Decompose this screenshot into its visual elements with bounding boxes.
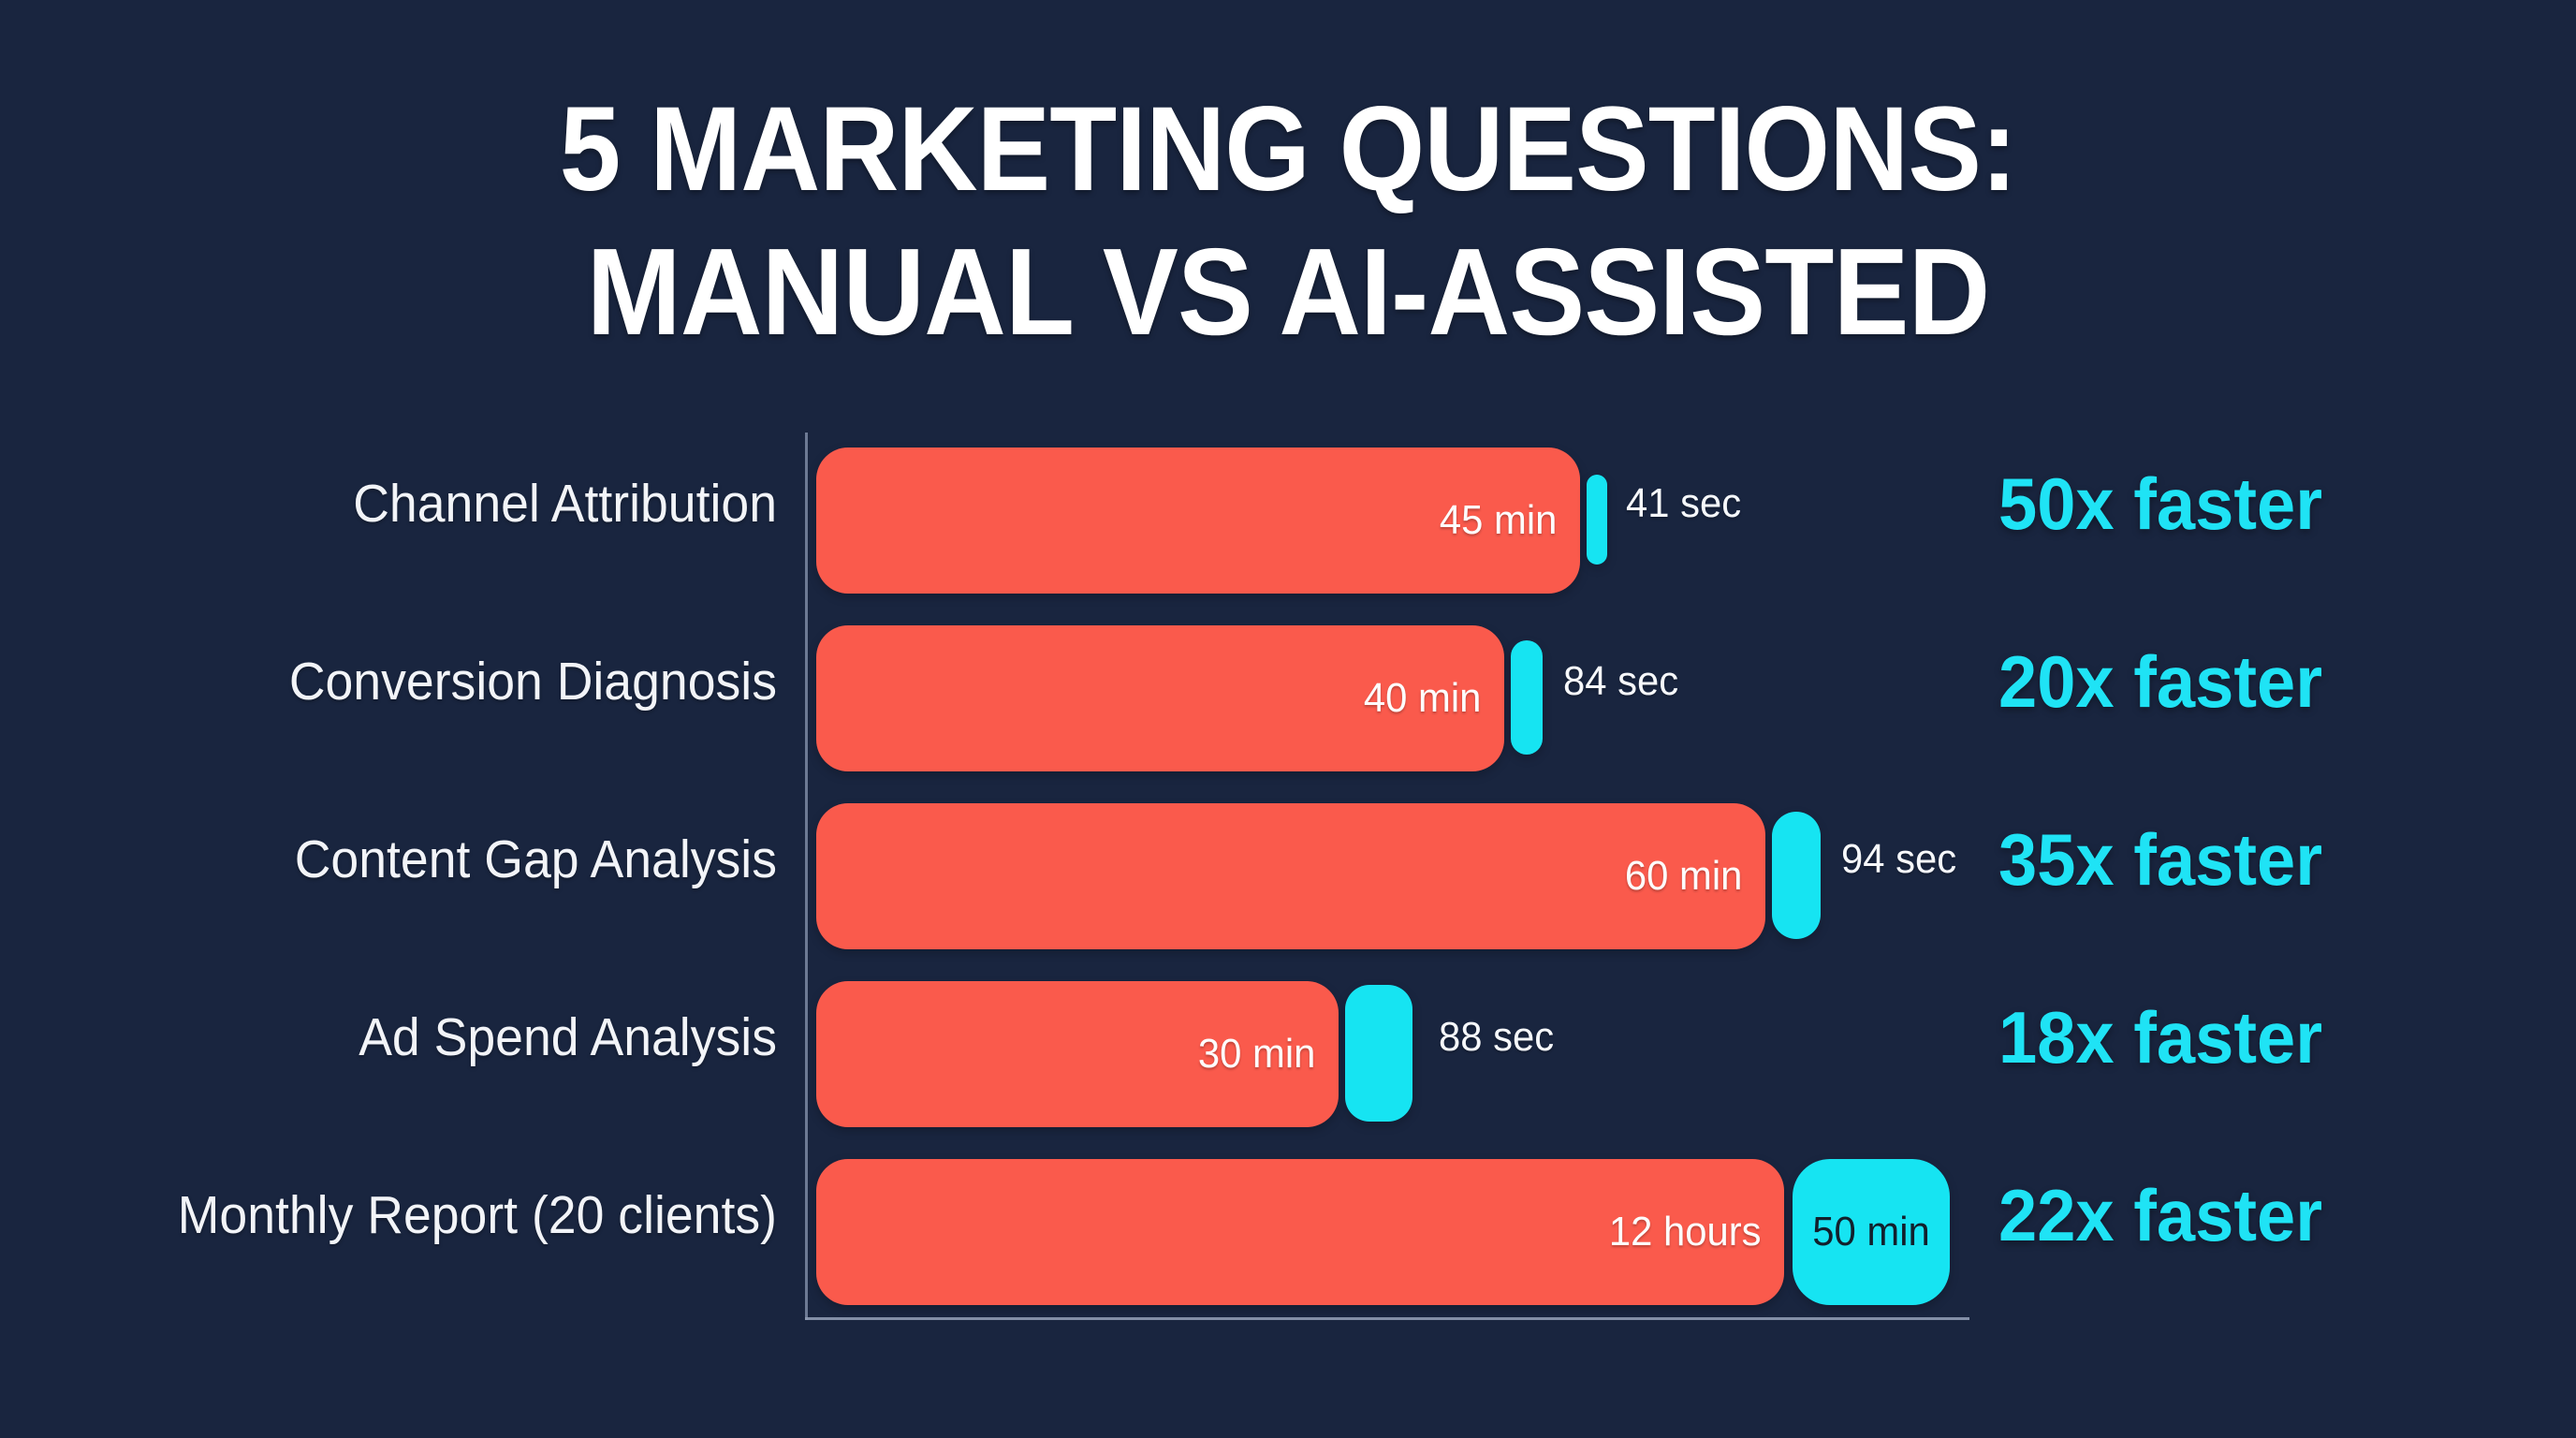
chart-row: Conversion Diagnosis40 min84 sec20x fast… xyxy=(0,593,2576,770)
ai-bar-value: 88 sec xyxy=(1439,948,1554,1126)
chart-row: Monthly Report (20 clients)12 hours50 mi… xyxy=(0,1126,2576,1304)
ai-bar xyxy=(1345,985,1412,1122)
manual-bar-value: 45 min xyxy=(1440,497,1580,544)
manual-bar-value: 12 hours xyxy=(1609,1209,1784,1255)
speedup-annotation: 20x faster xyxy=(1998,593,2322,770)
manual-bar-value: 40 min xyxy=(1364,675,1504,722)
ai-bar: 50 min xyxy=(1793,1159,1950,1305)
ai-bar-value: 41 sec xyxy=(1626,415,1741,593)
ai-bar xyxy=(1511,640,1543,755)
ai-bar xyxy=(1587,475,1607,565)
manual-bar: 45 min xyxy=(816,448,1580,594)
manual-bar: 40 min xyxy=(816,625,1504,771)
bar-chart: Channel Attribution45 min41 sec50x faste… xyxy=(0,0,2576,1438)
manual-bar: 60 min xyxy=(816,803,1765,949)
chart-row: Ad Spend Analysis30 min88 sec18x faster xyxy=(0,948,2576,1126)
manual-bar-value: 60 min xyxy=(1625,853,1765,900)
speedup-annotation: 18x faster xyxy=(1998,948,2322,1126)
chart-row: Channel Attribution45 min41 sec50x faste… xyxy=(0,415,2576,593)
ai-bar-value: 50 min xyxy=(1812,1209,1929,1255)
speedup-annotation: 22x faster xyxy=(1998,1126,2322,1304)
speedup-annotation: 50x faster xyxy=(1998,415,2322,593)
ai-bar-value: 94 sec xyxy=(1841,770,1956,948)
manual-bar-value: 30 min xyxy=(1198,1031,1339,1078)
ai-bar-value: 84 sec xyxy=(1563,593,1678,770)
manual-bar: 30 min xyxy=(816,981,1339,1127)
speedup-annotation: 35x faster xyxy=(1998,770,2322,948)
ai-bar xyxy=(1772,812,1821,939)
manual-bar: 12 hours xyxy=(816,1159,1784,1305)
x-axis-baseline xyxy=(805,1317,1969,1320)
chart-row: Content Gap Analysis60 min94 sec35x fast… xyxy=(0,770,2576,948)
